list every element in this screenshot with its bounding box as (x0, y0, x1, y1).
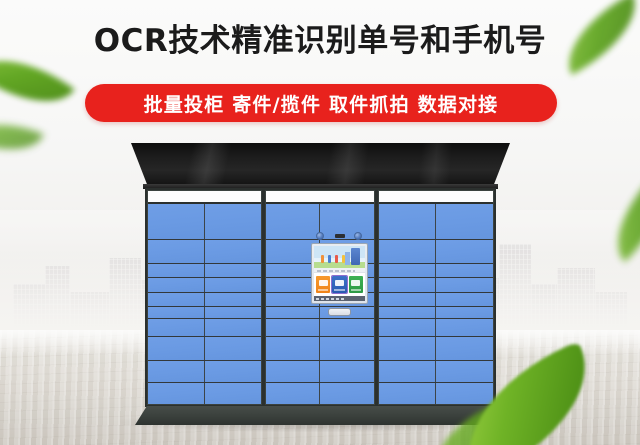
table-row (379, 337, 493, 361)
bay-header-panel (266, 191, 374, 204)
locker-door[interactable] (379, 204, 436, 239)
table-row (148, 264, 261, 278)
screen-action-tiles (314, 273, 365, 296)
camera-icon (316, 232, 324, 240)
table-row (148, 337, 261, 361)
box-icon (351, 280, 360, 286)
locker-door[interactable] (205, 293, 262, 306)
locker-door[interactable] (379, 240, 436, 263)
locker-door[interactable] (205, 361, 262, 381)
scanner-bar-icon (335, 234, 345, 238)
locker-door[interactable] (436, 337, 493, 360)
bay-header-panel (148, 191, 261, 204)
screen-notice-strip (314, 268, 365, 273)
table-row (379, 319, 493, 337)
locker-door[interactable] (266, 383, 320, 404)
locker-door[interactable] (320, 361, 374, 381)
table-row (266, 337, 374, 361)
table-row (379, 293, 493, 307)
screen-tile-orange[interactable] (316, 276, 330, 293)
tile-caption (351, 289, 361, 291)
locker-door[interactable] (379, 383, 436, 404)
locker-door[interactable] (148, 293, 205, 306)
locker-door-grid (379, 204, 493, 404)
locker-door[interactable] (379, 361, 436, 381)
sensor-row (316, 231, 363, 241)
locker-door[interactable] (379, 319, 436, 336)
locker-door[interactable] (205, 278, 262, 292)
table-row (148, 278, 261, 293)
card-slot-icon[interactable] (328, 308, 351, 316)
locker-door[interactable] (148, 361, 205, 381)
locker-door[interactable] (320, 319, 374, 336)
locker-door[interactable] (205, 337, 262, 360)
tagline-text: 批量投柜 寄件/揽件 取件抓拍 数据对接 (144, 90, 499, 117)
locker-door[interactable] (436, 361, 493, 381)
locker-bay-right (378, 190, 494, 405)
table-row (379, 278, 493, 293)
tile-caption (318, 289, 328, 291)
locker-door[interactable] (205, 240, 262, 263)
locker-door[interactable] (205, 307, 262, 318)
screen-bezel (311, 243, 368, 304)
screen-banner-illustration (314, 246, 365, 268)
locker-door[interactable] (205, 264, 262, 277)
locker-door[interactable] (148, 240, 205, 263)
table-row (379, 383, 493, 404)
locker-door[interactable] (436, 307, 493, 318)
locker-door[interactable] (266, 319, 320, 336)
table-row (379, 240, 493, 264)
locker-door[interactable] (379, 278, 436, 292)
locker-door[interactable] (436, 278, 493, 292)
table-row (266, 383, 374, 404)
locker-door[interactable] (436, 204, 493, 239)
locker-door-grid (148, 204, 261, 404)
locker-door[interactable] (320, 383, 374, 404)
camera-icon (354, 232, 362, 240)
kiosk-screen[interactable] (314, 246, 365, 301)
locker-door[interactable] (379, 337, 436, 360)
locker-door[interactable] (148, 337, 205, 360)
tagline-banner: 批量投柜 寄件/揽件 取件抓拍 数据对接 (85, 84, 557, 122)
table-row (379, 264, 493, 278)
locker-door[interactable] (436, 240, 493, 263)
locker-door[interactable] (266, 337, 320, 360)
locker-door[interactable] (436, 293, 493, 306)
locker-door[interactable] (436, 319, 493, 336)
page-title: OCR技术精准识别单号和手机号 (0, 24, 640, 58)
locker-door[interactable] (205, 204, 262, 239)
locker-door[interactable] (148, 264, 205, 277)
locker-bay-left (147, 190, 265, 405)
locker-door[interactable] (436, 264, 493, 277)
table-row (148, 383, 261, 404)
cabinet-plinth (135, 406, 506, 425)
locker-door[interactable] (148, 204, 205, 239)
locker-door[interactable] (205, 319, 262, 336)
table-row (148, 293, 261, 307)
box-icon (335, 280, 344, 286)
table-row (148, 204, 261, 240)
table-row (266, 319, 374, 337)
locker-door[interactable] (148, 319, 205, 336)
screen-tile-blue[interactable] (332, 276, 346, 293)
locker-door[interactable] (436, 383, 493, 404)
table-row (148, 319, 261, 337)
locker-door[interactable] (379, 264, 436, 277)
table-row (379, 361, 493, 382)
locker-door[interactable] (148, 383, 205, 404)
locker-door[interactable] (320, 337, 374, 360)
table-row (379, 204, 493, 240)
scene: OCR技术精准识别单号和手机号 批量投柜 寄件/揽件 取件抓拍 数据对接 (0, 0, 640, 445)
table-row (148, 361, 261, 382)
table-row (379, 307, 493, 319)
locker-door[interactable] (148, 307, 205, 318)
kiosk-console[interactable] (311, 231, 368, 317)
table-row (148, 307, 261, 319)
locker-door[interactable] (266, 361, 320, 381)
locker-door[interactable] (148, 278, 205, 292)
locker-door[interactable] (205, 383, 262, 404)
locker-door[interactable] (379, 307, 436, 318)
locker-door[interactable] (379, 293, 436, 306)
screen-tile-green[interactable] (349, 276, 363, 293)
cabinet-canopy (131, 143, 510, 187)
tile-caption (334, 289, 344, 291)
bay-header-panel (379, 191, 493, 204)
box-icon (319, 280, 328, 286)
table-row (266, 361, 374, 382)
table-row (148, 240, 261, 264)
screen-footer-bar (314, 296, 365, 301)
